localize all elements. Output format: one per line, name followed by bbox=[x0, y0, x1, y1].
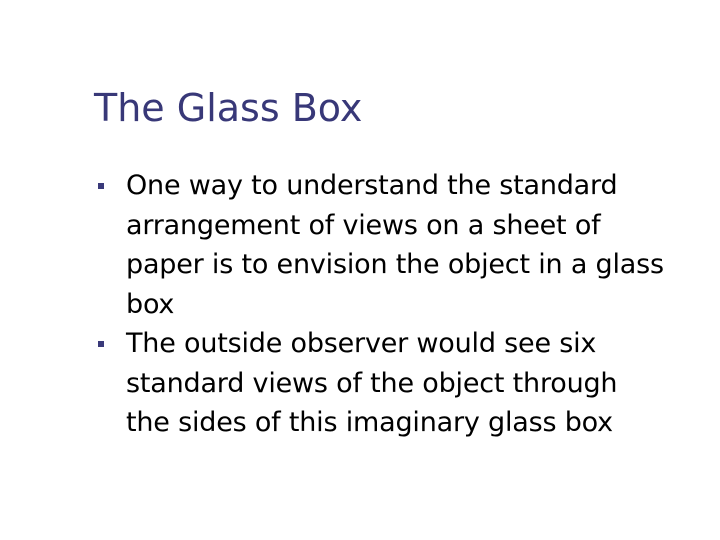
slide-title: The Glass Box bbox=[94, 85, 694, 131]
square-bullet-icon bbox=[98, 183, 104, 189]
slide-body-bullet-list: One way to understand the standard arran… bbox=[94, 166, 720, 443]
bullet-item-text: One way to understand the standard arran… bbox=[126, 166, 720, 324]
bullet-item-text: The outside observer would see six stand… bbox=[126, 324, 720, 443]
bullet-list-item: The outside observer would see six stand… bbox=[94, 324, 720, 443]
square-bullet-icon bbox=[98, 341, 104, 347]
bullet-list-item: One way to understand the standard arran… bbox=[94, 166, 720, 324]
presentation-slide: The Glass Box One way to understand the … bbox=[0, 0, 720, 540]
